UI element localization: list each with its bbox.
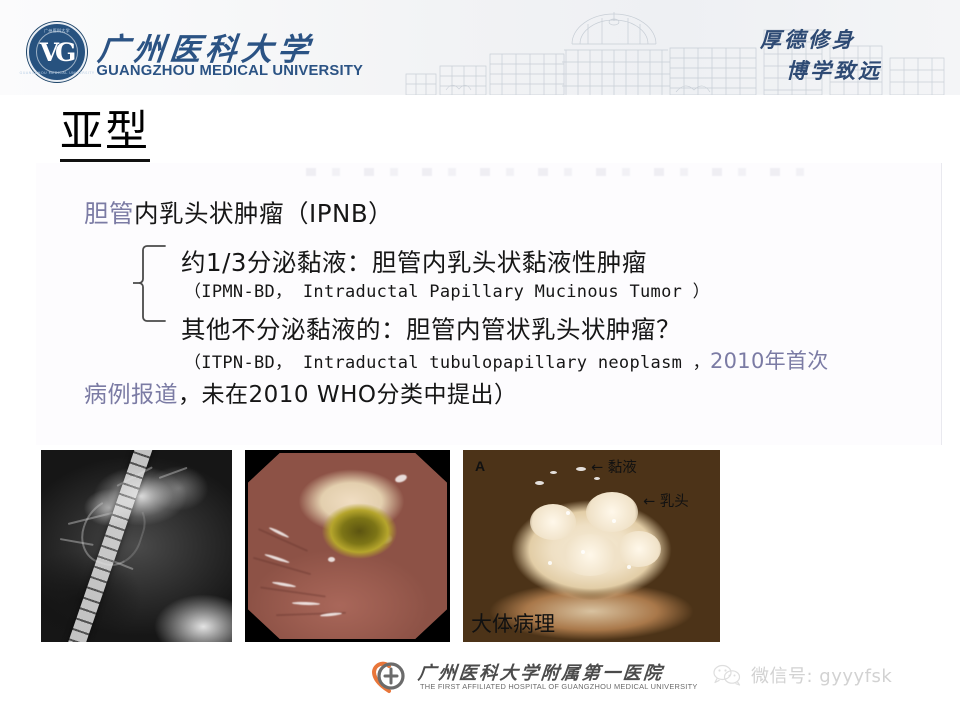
mucin-annotation: ← 黏液	[591, 456, 637, 477]
gross-pathology-caption: 大体病理	[471, 608, 555, 638]
endoscopy-image	[248, 453, 447, 639]
ercp-radiograph-panel	[41, 450, 232, 642]
mucosal-fold	[258, 528, 308, 552]
bullet-3-highlight: 病例报道	[84, 382, 178, 408]
specular-highlight	[328, 557, 335, 562]
slide-header: 广州医科大学 VG GUANGZHOU MEDICAL UNIVERSITY 广…	[0, 0, 960, 95]
motto-line-2: 博学致远	[786, 55, 882, 85]
tumor-lobule	[586, 492, 638, 532]
wechat-icon	[712, 664, 742, 686]
heart-hospital-icon	[372, 660, 408, 694]
mucin-fleck	[594, 477, 600, 480]
wechat-id-text: 微信号: gyyyfsk	[751, 662, 892, 688]
specular-highlight	[292, 601, 320, 605]
heading-rest: 内乳头状肿瘤（IPNB）	[134, 199, 393, 228]
mucin-fleck	[576, 467, 586, 471]
page-title: 亚型	[60, 108, 150, 162]
content-heading: 胆管内乳头状肿瘤（IPNB）	[84, 195, 393, 230]
tumor-lobule	[530, 504, 576, 540]
endoscopy-papilla-panel	[245, 450, 450, 642]
motto-line-1: 厚德修身	[760, 24, 856, 54]
content-card: 胆管内乳头状肿瘤（IPNB） 约1/3分泌黏液：胆管内乳头状黏液性肿瘤 （IPM…	[36, 163, 942, 445]
bullet-2-text: 其他不分泌黏液的：胆管内管状乳头状肿瘤？	[181, 311, 681, 346]
mucosal-fold	[260, 586, 326, 597]
mucin-fleck	[548, 561, 552, 565]
mucin-fleck	[535, 481, 544, 485]
mucin-fleck	[550, 471, 557, 474]
heading-highlight: 胆管	[84, 199, 134, 228]
slide-footer: 广州医科大学附属第一医院 THE FIRST AFFILIATED HOSPIT…	[0, 650, 960, 720]
bullet-1-text: 约1/3分泌黏液：胆管内乳头状黏液性肿瘤	[181, 244, 647, 279]
crest-ring-text-bottom: GUANGZHOU MEDICAL UNIVERSITY	[20, 71, 95, 75]
tumor-lobule	[617, 531, 661, 567]
specular-highlight	[272, 581, 296, 588]
papilla-annotation: ← 乳头	[643, 490, 689, 511]
bullet-2-subtext: （ITPN-BD， Intraductal tubulopapillary ne…	[184, 345, 829, 375]
clipped-text-artifact	[306, 168, 806, 176]
gross-pathology-panel: A ← 黏液 ← 乳头 大体病理	[463, 450, 720, 642]
tumor-lobule	[561, 534, 619, 576]
wechat-watermark: 微信号: gyyyfsk	[712, 662, 892, 688]
figure-panel-row: A ← 黏液 ← 乳头 大体病理	[0, 450, 960, 642]
bullet-1-subtext: （IPMN-BD， Intraductal Papillary Mucinous…	[184, 277, 710, 302]
grouping-brace-icon	[131, 243, 167, 327]
university-name-en: GUANGZHOU MEDICAL UNIVERSITY	[96, 63, 363, 79]
bullet-2-subtext-highlight: 2010年首次	[710, 349, 829, 373]
bullet-3-text: 病例报道，未在2010 WHO分类中提出）	[84, 375, 517, 409]
panel-label-a: A	[475, 458, 485, 474]
bullet-2-subtext-en: （ITPN-BD， Intraductal tubulopapillary ne…	[184, 353, 710, 373]
slide-page: 广州医科大学 VG GUANGZHOU MEDICAL UNIVERSITY 广…	[0, 0, 960, 720]
mucin-fleck	[627, 565, 631, 569]
bullet-3-rest: ，未在2010 WHO分类中提出）	[178, 382, 517, 408]
gmu-crest-icon: 广州医科大学 VG GUANGZHOU MEDICAL UNIVERSITY	[27, 22, 87, 82]
hospital-name-en: THE FIRST AFFILIATED HOSPITAL OF GUANGZH…	[420, 682, 698, 691]
specular-highlight	[394, 473, 408, 484]
